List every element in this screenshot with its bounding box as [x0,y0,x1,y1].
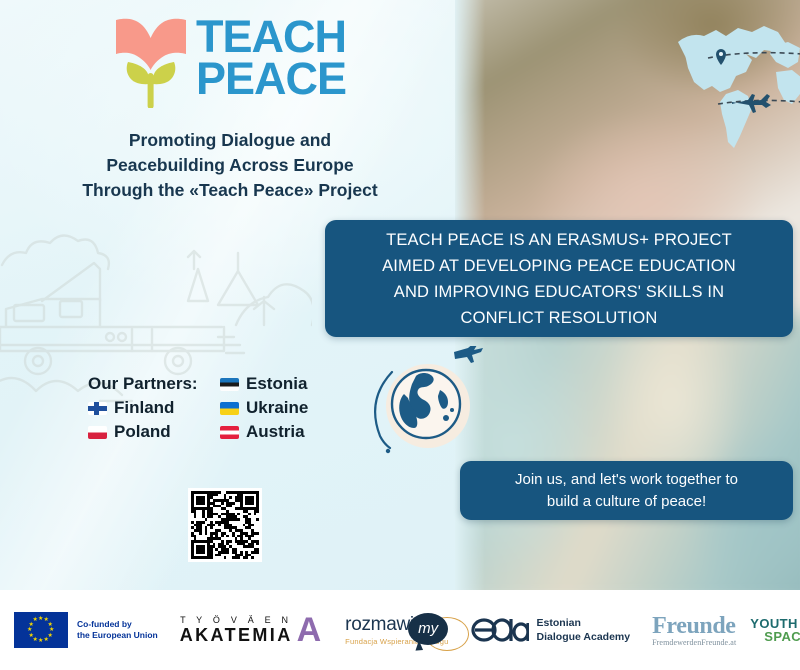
eu-star-icon: ★ [27,627,32,633]
teach-peace-logo: TEACH PEACE [112,12,342,110]
eda-text: Estonian Dialogue Academy [537,616,631,644]
akatemia-a-mark-icon: A [297,615,322,645]
cta-line-1: Join us, and let's work together to [515,471,738,488]
partner-label: Austria [246,422,305,442]
eu-line-1: Co-funded by [77,619,158,631]
eda-line-1: Estonian [537,616,631,630]
flag-estonia-icon [220,378,239,391]
list-item: Austria [220,422,338,442]
rozmawiaj-my-logo: rozmawiaj Fundacja Wspierania Dialogu my [345,615,448,646]
poster-canvas: TEACH PEACE Promoting Dialogue and Peace… [0,0,800,670]
tyovaen-akatemia-logo: T Y Ö V Ä E N AKATEMIA A [180,615,321,645]
eu-line-2: the European Union [77,630,158,642]
call-to-action-panel: Join us, and let's work together to buil… [460,461,793,520]
qr-code-icon[interactable] [188,488,262,562]
logo-wordmark: TEACH PEACE [196,16,346,100]
freunde-logo: Freunde FremdewerdenFreunde.at [652,614,736,647]
list-item: Estonia [220,374,338,394]
footer-logo-bar: ★★★★★★★★★★★★ Co-funded by the European U… [0,590,800,670]
freunde-tagline: FremdewerdenFreunde.at [652,638,736,647]
eu-funding-logo: ★★★★★★★★★★★★ Co-funded by the European U… [14,612,158,648]
cta-line-2: build a culture of peace! [547,493,706,510]
books-desk-photo [455,314,800,590]
world-map-flightpath-icon [660,6,800,158]
partner-label: Estonia [246,374,307,394]
book-sprout-icon [112,14,190,108]
flag-poland-icon [88,426,107,439]
speech-bubble-icon: my [408,613,448,645]
heading-line-3: Through the «Teach Peace» Project [20,178,440,203]
flag-austria-icon [220,426,239,439]
statement-line-3: AND IMPROVING EDUCATORS' SKILLS IN [394,283,724,301]
akatemia-bottom-text: AKATEMIA [180,625,293,645]
logo-line-2: PEACE [196,58,346,100]
heading-line-1: Promoting Dialogue and [20,128,440,153]
eu-star-icon: ★ [38,638,43,644]
rozmawiaj-bubble-text: my [418,620,438,637]
statement-line-1: TEACH PEACE IS AN ERASMUS+ PROJECT [386,231,732,249]
flag-ukraine-icon [220,402,239,415]
cta-text: Join us, and let's work together to buil… [515,469,738,513]
youthspace-line-1: YOUTH [750,617,800,630]
estonian-dialogue-academy-logo: Estonian Dialogue Academy [471,616,631,644]
partner-label: Poland [114,422,171,442]
project-statement-panel: TEACH PEACE IS AN ERASMUS+ PROJECT AIMED… [325,220,793,337]
partner-label: Ukraine [246,398,308,418]
eu-star-icon: ★ [28,633,33,639]
speech-bubble-tail-icon [416,640,426,653]
statement-line-2: AIMED AT DEVELOPING PEACE EDUCATION [382,257,736,275]
statement-line-4: CONFLICT RESOLUTION [461,309,658,327]
list-item: Ukraine [220,398,338,418]
partner-label: Finland [114,398,174,418]
partners-title: Our Partners: [88,374,220,394]
eu-flag-icon: ★★★★★★★★★★★★ [14,612,68,648]
akatemia-top-text: T Y Ö V Ä E N [180,615,293,625]
eu-star-icon: ★ [33,617,38,623]
partners-list: Our Partners: Estonia Finland Ukraine Po… [88,372,338,444]
list-item: Poland [88,422,220,442]
globe-airplane-icon [358,346,484,470]
eu-funding-text: Co-funded by the European Union [77,619,158,642]
eda-line-2: Dialogue Academy [537,630,631,644]
logo-line-1: TEACH [196,16,346,58]
eu-star-icon: ★ [44,637,49,643]
youthspace-line-2: SPACE [764,630,800,644]
flag-finland-icon [88,402,107,415]
eda-monogram-icon [471,617,529,643]
page-title: Promoting Dialogue and Peacebuilding Acr… [20,128,440,203]
heading-line-2: Peacebuilding Across Europe [20,153,440,178]
freunde-main-text: Freunde [652,614,736,638]
youth-space-logo: YOUTH SPACE [750,617,800,644]
statement-text: TEACH PEACE IS AN ERASMUS+ PROJECT AIMED… [364,227,754,331]
list-item: Finland [88,398,220,418]
